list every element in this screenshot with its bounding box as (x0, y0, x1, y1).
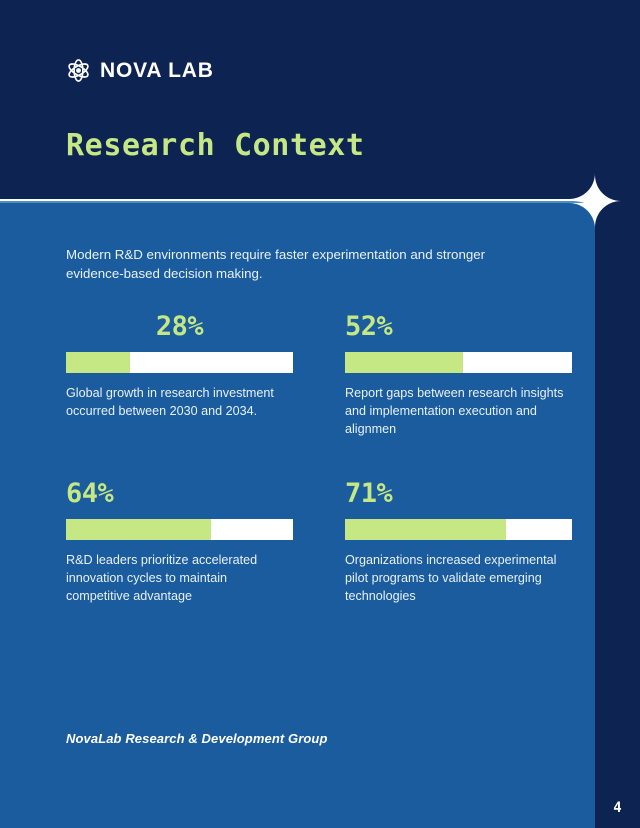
stat-value: 52% (345, 313, 572, 341)
brand-name: NOVA LAB (100, 60, 214, 81)
intro-paragraph: Modern R&D environments require faster e… (66, 246, 546, 284)
brand-logo: NOVA LAB (66, 58, 214, 83)
progress-bar-track (345, 352, 572, 373)
stat-value: 28% (66, 313, 293, 341)
progress-bar-fill (66, 352, 130, 373)
slide-canvas: NOVA LAB Research Context Modern R&D env… (0, 0, 640, 828)
stats-grid: 28% Global growth in research investment… (66, 313, 572, 606)
progress-bar-track (345, 519, 572, 540)
progress-bar-fill (345, 519, 506, 540)
stat-value: 64% (66, 480, 293, 508)
stat-description: Global growth in research investment occ… (66, 385, 293, 421)
page-number: 4 (595, 800, 640, 816)
header-panel (0, 0, 595, 199)
stat-description: Organizations increased experimental pil… (345, 552, 572, 606)
stat-card: 28% Global growth in research investment… (66, 313, 293, 439)
progress-bar-track (66, 519, 293, 540)
stat-description: Report gaps between research insights an… (345, 385, 572, 439)
atom-icon (66, 58, 91, 83)
progress-bar-fill (345, 352, 463, 373)
stat-description: R&D leaders prioritize accelerated innov… (66, 552, 293, 606)
footer-text: NovaLab Research & Development Group (66, 731, 328, 746)
page-title: Research Context (66, 129, 365, 164)
progress-bar-track (66, 352, 293, 373)
stat-card: 52% Report gaps between research insight… (345, 313, 572, 439)
right-rail-bottom (595, 201, 640, 828)
stat-card: 71% Organizations increased experimental… (345, 480, 572, 606)
progress-bar-fill (66, 519, 211, 540)
stat-value: 71% (345, 480, 572, 508)
stat-card: 64% R&D leaders prioritize accelerated i… (66, 480, 293, 606)
right-rail-top (595, 0, 640, 201)
